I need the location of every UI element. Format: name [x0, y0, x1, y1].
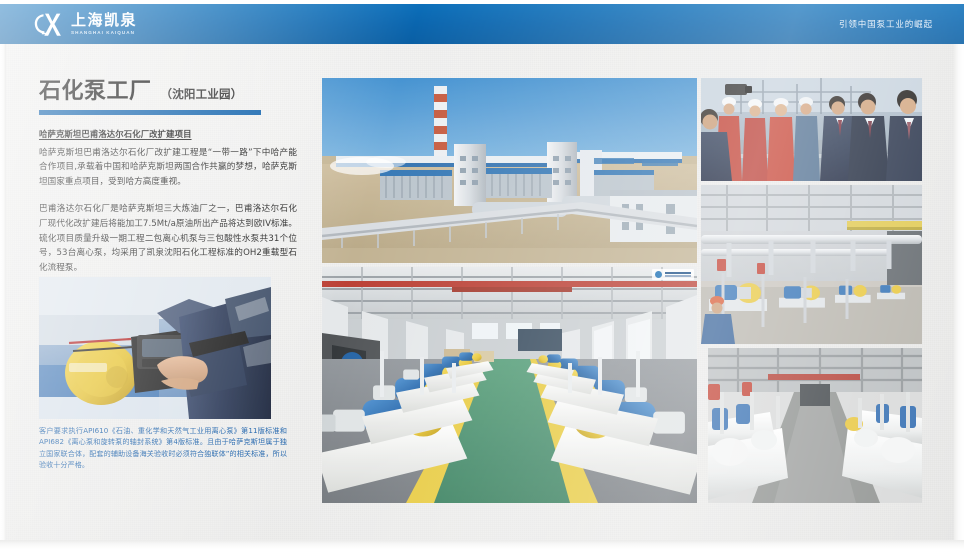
technician-vibration-test-photo	[39, 277, 271, 419]
page-title: 石化泵工厂	[39, 80, 152, 103]
article-column: 石化泵工厂 （沈阳工业园） 哈萨克斯坦巴甫洛达尔石化厂改扩建项目 哈萨克斯坦巴甫…	[39, 80, 297, 276]
brand-logo-text: 上海凯泉 SHANGHAI KAIQUAN	[71, 13, 137, 35]
body-paragraph-2: 巴甫洛达尔石化厂是哈萨克斯坦三大炼油厂之一，巴甫洛达尔石化厂现代化改扩建后将能加…	[39, 202, 297, 276]
officials-site-visit-photo	[701, 78, 922, 181]
watermark-logo-icon	[655, 271, 662, 278]
pump-station-piping-photo	[701, 185, 922, 344]
project-lead-heading: 哈萨克斯坦巴甫洛达尔石化厂改扩建项目	[39, 128, 297, 141]
header-tagline: 引领中国泵工业的崛起	[839, 4, 933, 44]
brand-logo[interactable]: 上海凯泉 SHANGHAI KAIQUAN	[32, 11, 137, 38]
kaiquan-k-emblem-icon	[32, 12, 64, 38]
page-bottom-edge	[0, 540, 964, 549]
brand-name-cn: 上海凯泉	[71, 13, 137, 28]
slide-root: 上海凯泉 SHANGHAI KAIQUAN 引领中国泵工业的崛起 石化泵工厂 （…	[0, 0, 964, 549]
kaiquan-watermark-badge	[652, 269, 694, 280]
brand-name-en: SHANGHAI KAIQUAN	[71, 31, 137, 36]
pump-assembly-hall-photo	[322, 267, 697, 503]
watermark-text-lines	[665, 272, 691, 277]
watermark-line-1	[665, 272, 691, 274]
refinery-plant-exterior-photo	[322, 78, 697, 263]
body-paragraph-1: 哈萨克斯坦巴甫洛达尔石化厂改扩建工程是“一带一路”下中哈产能合作项目,承载着中国…	[39, 146, 297, 190]
title-underline-rule	[39, 110, 261, 115]
photo-grid	[322, 78, 922, 503]
page-subtitle: （沈阳工业园）	[161, 86, 243, 102]
page-right-edge	[954, 44, 964, 549]
page-left-edge	[0, 44, 6, 549]
white-pump-units-warehouse-photo	[708, 348, 922, 503]
standards-caption: 客户要求执行API610《石油、重化学和天然气工业用离心泵》第11版标准和API…	[39, 425, 287, 471]
page-title-row: 石化泵工厂 （沈阳工业园）	[39, 80, 297, 103]
watermark-line-2	[665, 275, 691, 276]
page-header: 上海凯泉 SHANGHAI KAIQUAN 引领中国泵工业的崛起	[0, 4, 964, 44]
